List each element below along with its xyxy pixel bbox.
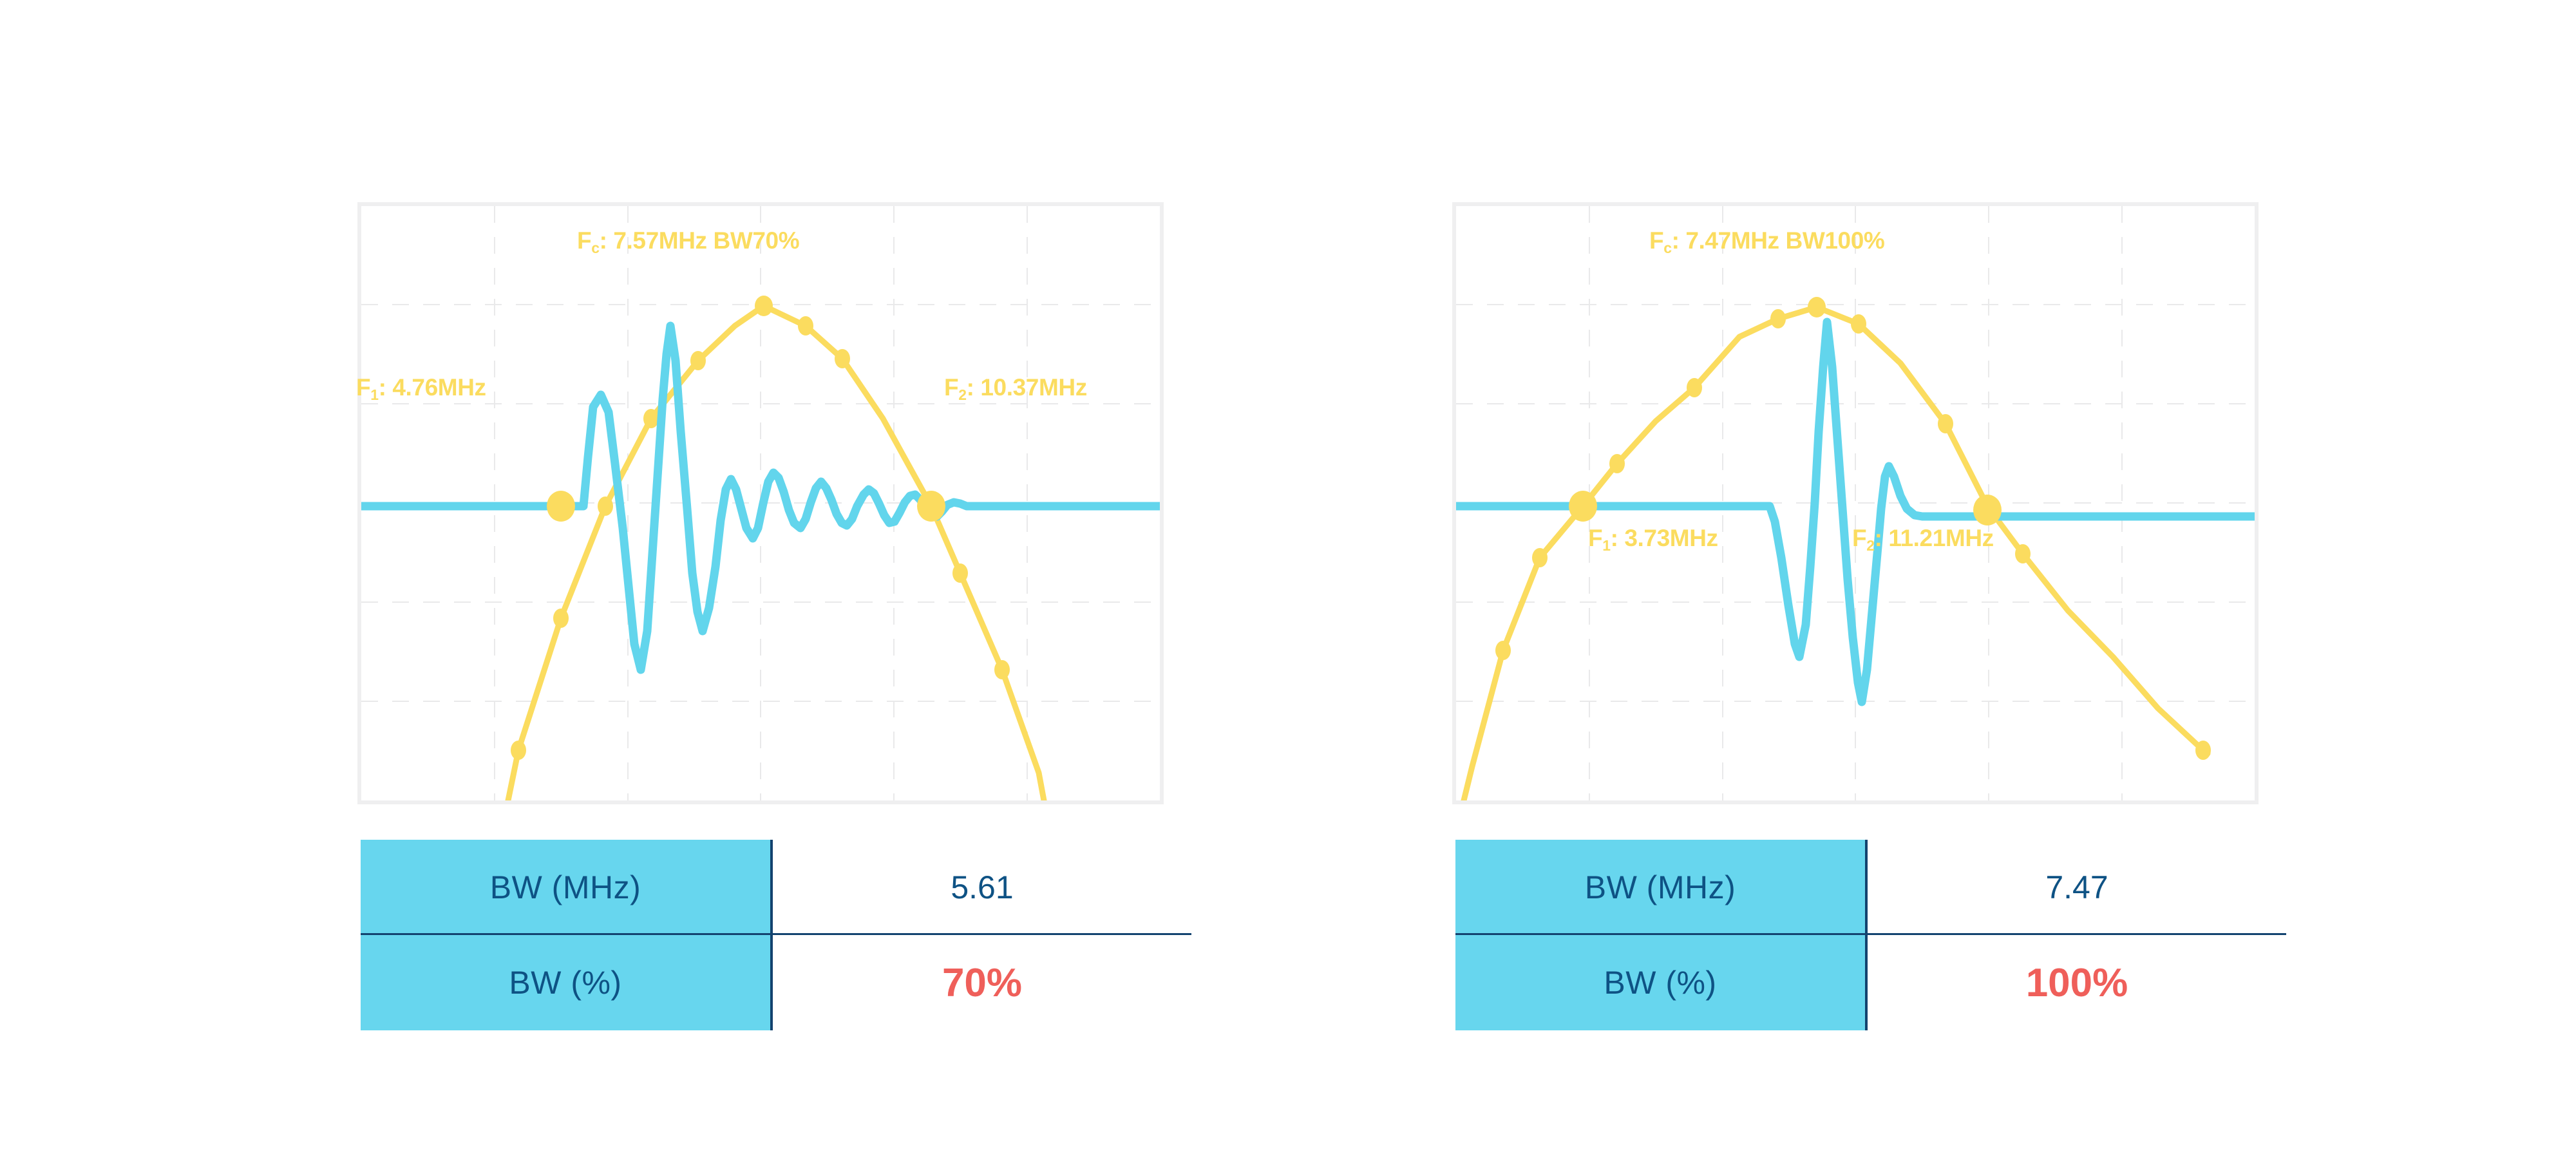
f1-marker-right	[1569, 491, 1597, 522]
f2-marker-right	[1973, 495, 2002, 525]
annotation-f1-right: F1: 3.73MHz	[1588, 526, 1718, 550]
bw-mhz-label: BW (MHz)	[361, 840, 773, 935]
bw-mhz-label: BW (MHz)	[1455, 840, 1868, 935]
bw-pct-label: BW (%)	[361, 935, 773, 1030]
annotation-f2-right: F2: 11.21MHz	[1852, 526, 1994, 550]
table-row: BW (%) 70%	[361, 935, 1191, 1030]
chart-plot-right	[1456, 206, 2255, 800]
transducer-panel-left: Fc: 7.57MHz BW70% F1: 4.76MHz F2: 10.37M…	[0, 0, 1262, 1154]
annotation-center-left: Fc: 7.57MHz BW70%	[577, 229, 799, 252]
bw-pct-label: BW (%)	[1455, 935, 1868, 1030]
transducer-panel-right: Fc: 7.47MHz BW100% F1: 3.73MHz F2: 11.21…	[1314, 0, 2576, 1154]
annotation-f2-left: F2: 10.37MHz	[944, 375, 1087, 399]
annotation-center-right: Fc: 7.47MHz BW100%	[1649, 229, 1884, 252]
bw-table-left: BW (MHz) 5.61 BW (%) 70%	[361, 840, 1191, 1046]
chart-plot-left	[361, 206, 1160, 800]
table-row: BW (%) 100%	[1455, 935, 2286, 1030]
chart-frame-left: Fc: 7.57MHz BW70% F1: 4.76MHz F2: 10.37M…	[357, 202, 1164, 804]
bw-pct-value: 70%	[773, 935, 1191, 1030]
table-row: BW (MHz) 7.47	[1455, 840, 2286, 935]
screenshot-root: Fc: 7.57MHz BW70% F1: 4.76MHz F2: 10.37M…	[0, 0, 2576, 1154]
f2-marker-left	[917, 491, 945, 522]
spectrum-chart-right	[1456, 206, 2255, 800]
annotation-f1-left: F1: 4.76MHz	[356, 375, 486, 399]
bw-mhz-value: 7.47	[1868, 840, 2286, 935]
bw-mhz-value: 5.61	[773, 840, 1191, 935]
chart-frame-right: Fc: 7.47MHz BW100% F1: 3.73MHz F2: 11.21…	[1452, 202, 2259, 804]
table-row: BW (MHz) 5.61	[361, 840, 1191, 935]
bw-pct-value: 100%	[1868, 935, 2286, 1030]
spectrum-chart-left	[361, 206, 1160, 800]
f1-marker-left	[547, 491, 575, 522]
bw-table-right: BW (MHz) 7.47 BW (%) 100%	[1455, 840, 2286, 1046]
